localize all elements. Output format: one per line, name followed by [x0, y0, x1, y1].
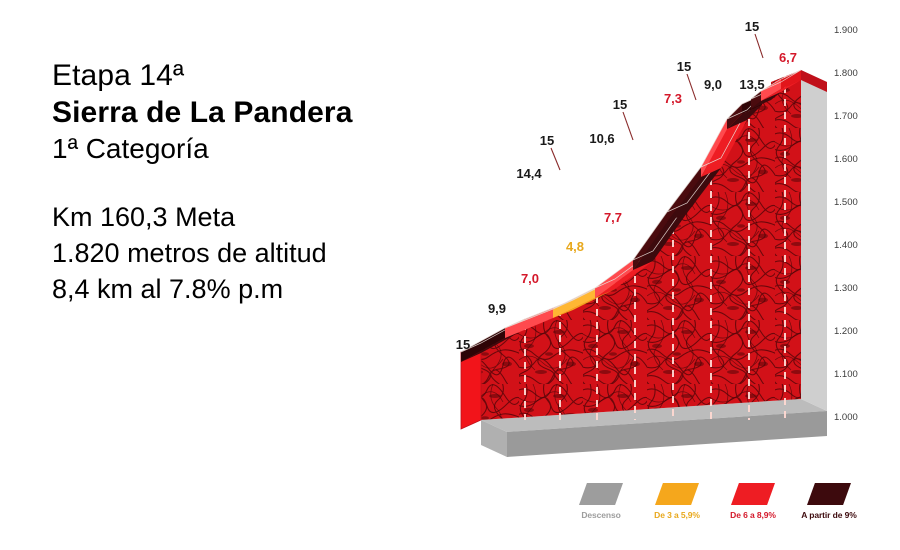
altitude-axis: 1.900 1.800 1.700 1.600 1.500 1.400 1.30…: [834, 25, 858, 423]
stage-info-panel: Etapa 14ª Sierra de La Pandera 1ª Catego…: [52, 58, 452, 307]
gradient-label-9: 6,7: [779, 50, 797, 65]
gradient-label-0: 9,9: [488, 301, 506, 316]
gradient-label-3: 7,7: [604, 210, 622, 225]
legend-swatch-medium: [731, 483, 775, 505]
gradient-label-4: 14,4: [516, 166, 542, 181]
legend-item-hard: A partir de 9%: [793, 483, 865, 520]
climb-name: Sierra de La Pandera: [52, 95, 452, 132]
gradient-label-6: 7,3: [664, 91, 682, 106]
axis-tick-1800: 1.800: [834, 68, 858, 79]
gradient-label-8: 13,5: [739, 77, 764, 92]
distance-marker-0: 15: [456, 337, 470, 352]
stage-number: Etapa 14ª: [52, 58, 452, 95]
profile-svg: 15 9,9 7,0 4,8 7,7 15 14,4 15 10,6 15 7,…: [455, 0, 900, 550]
gradient-label-5: 10,6: [589, 131, 614, 146]
axis-tick-1600: 1.600: [834, 154, 858, 165]
climb-profile-chart: 15 9,9 7,0 4,8 7,7 15 14,4 15 10,6 15 7,…: [455, 0, 900, 550]
axis-tick-1200: 1.200: [834, 326, 858, 337]
legend-label-descenso: Descenso: [565, 510, 637, 520]
axis-tick-1400: 1.400: [834, 240, 858, 251]
legend-label-easy: De 3 a 5,9%: [641, 510, 713, 520]
axis-tick-1900: 1.900: [834, 25, 858, 36]
stage-details: Km 160,3 Meta 1.820 metros de altitud 8,…: [52, 200, 452, 307]
gradient-label-1: 7,0: [521, 271, 539, 286]
legend-swatch-hard: [807, 483, 851, 505]
distance-marker-1: 15: [540, 133, 554, 148]
axis-tick-1700: 1.700: [834, 111, 858, 122]
distance-marker-2: 15: [613, 97, 627, 112]
gradient-legend: Descenso De 3 a 5,9% De 6 a 8,9% A parti…: [565, 483, 865, 535]
climb-summary: 8,4 km al 7.8% p.m: [52, 272, 452, 308]
axis-tick-1500: 1.500: [834, 197, 858, 208]
axis-tick-1000: 1.000: [834, 412, 858, 423]
legend-item-easy: De 3 a 5,9%: [641, 483, 713, 520]
finish-km: Km 160,3 Meta: [52, 200, 452, 236]
distance-marker-3: 15: [677, 59, 691, 74]
axis-tick-1300: 1.300: [834, 283, 858, 294]
legend-swatch-easy: [655, 483, 699, 505]
legend-label-hard: A partir de 9%: [793, 510, 865, 520]
climb-category: 1ª Categoría: [52, 131, 452, 166]
profile-body: [481, 70, 801, 420]
legend-item-medium: De 6 a 8,9%: [717, 483, 789, 520]
gradient-label-2: 4,8: [566, 239, 584, 254]
gradient-label-7: 9,0: [704, 77, 722, 92]
legend-item-descenso: Descenso: [565, 483, 637, 520]
legend-label-medium: De 6 a 8,9%: [717, 510, 789, 520]
distance-marker-4: 15: [745, 19, 759, 34]
profile-right-face: [801, 70, 827, 411]
axis-tick-1100: 1.100: [834, 369, 858, 380]
legend-swatch-descenso: [579, 483, 623, 505]
summit-altitude: 1.820 metros de altitud: [52, 236, 452, 272]
